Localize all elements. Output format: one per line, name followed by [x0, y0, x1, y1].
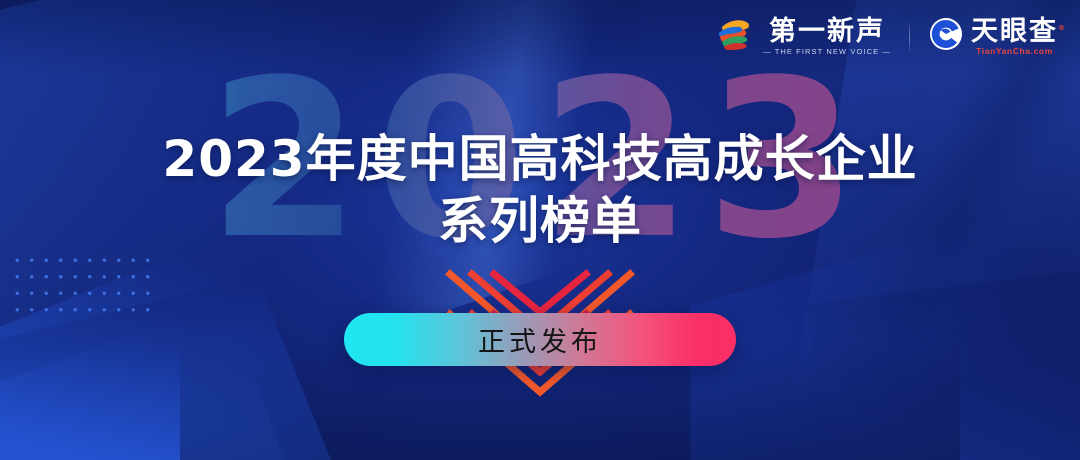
title-line-2: 系列榜单: [0, 190, 1080, 252]
registered-trademark-icon: ®: [1058, 14, 1067, 43]
logo-diyixinsheng-name: 第一新声: [769, 17, 885, 46]
logo-diyixinsheng-text: 第一新声 — THE FIRST NEW VOICE —: [763, 17, 891, 57]
swirl-globe-icon: [716, 14, 756, 59]
logo-diyixinsheng-tagline: — THE FIRST NEW VOICE —: [763, 46, 891, 57]
logo-tianyancha-tagline: TianYanCha.com: [976, 46, 1053, 57]
release-badge[interactable]: 正式发布: [344, 313, 736, 366]
release-badge-label: 正式发布: [478, 320, 602, 359]
eye-lens-icon: [928, 16, 964, 57]
logo-tianyancha-name-text: 天眼查: [971, 16, 1058, 47]
logo-divider: [909, 20, 910, 54]
title-line-1: 2023年度中国高科技高成长企业: [0, 128, 1080, 190]
bg-facet-bottom-right-b: [807, 258, 1080, 460]
logo-tianyancha-name: 天眼查 ®: [971, 17, 1058, 46]
banner-title: 2023年度中国高科技高成长企业 系列榜单: [0, 128, 1080, 252]
bg-facet-bottom-left-2: [0, 300, 294, 460]
logo-diyixinsheng[interactable]: 第一新声 — THE FIRST NEW VOICE —: [716, 14, 891, 59]
logo-tianyancha-text: 天眼查 ® TianYanCha.com: [971, 17, 1058, 57]
promo-banner: 2023 2023年度中国高科技高成长企业 系列榜单 正式发布: [0, 0, 1080, 460]
logo-bar: 第一新声 — THE FIRST NEW VOICE — 天眼查 ®: [716, 14, 1058, 59]
logo-tianyancha[interactable]: 天眼查 ® TianYanCha.com: [928, 16, 1058, 57]
